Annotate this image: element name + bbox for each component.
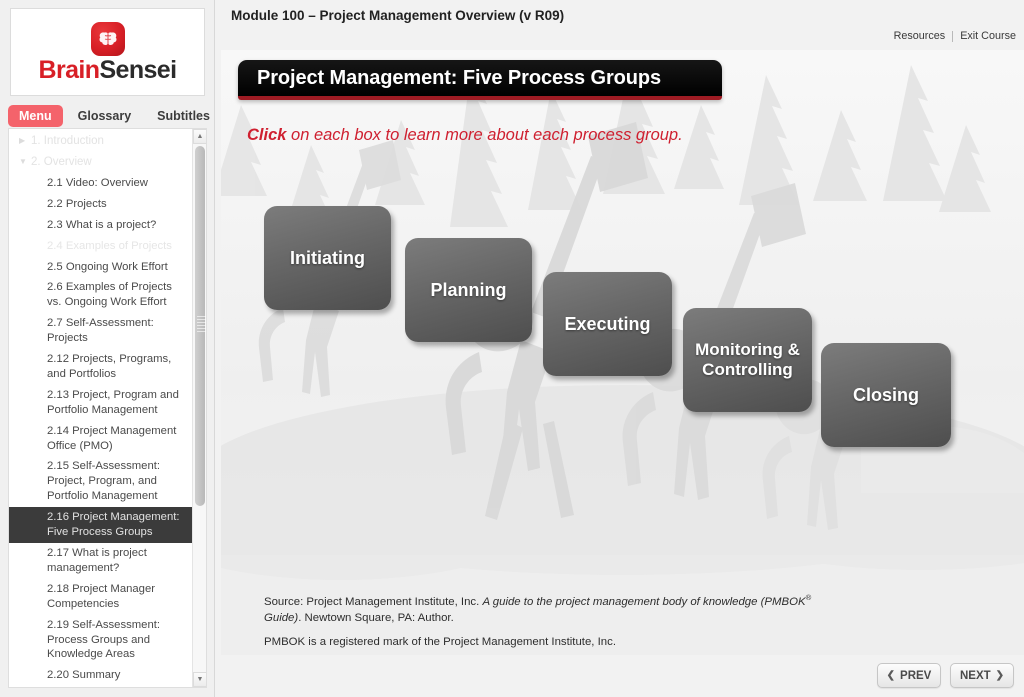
course-outline-list: ▶ 1. Introduction ▼ 2. Overview 2.1 Vide… (9, 129, 193, 687)
sidebar-item-2-14[interactable]: 2.14 Project Management Office (PMO) (9, 421, 193, 457)
source-line-2: PMBOK is a registered mark of the Projec… (264, 634, 824, 650)
instruction-emphasis: Click (247, 126, 286, 144)
course-header: Module 100 – Project Management Overview… (215, 0, 1024, 50)
prev-label: PREV (900, 670, 931, 682)
chevron-down-icon: ▼ (19, 155, 31, 169)
sidebar: BrainSensei Menu Glossary Subtitles ▶ 1.… (0, 0, 215, 697)
tab-glossary[interactable]: Glossary (67, 105, 143, 127)
exit-course-link[interactable]: Exit Course (960, 30, 1016, 42)
process-group-executing[interactable]: Executing (543, 272, 672, 376)
sidebar-item-2-1[interactable]: 2.1 Video: Overview (9, 173, 193, 194)
process-group-label: Closing (853, 385, 919, 406)
slide-stage: Project Management: Five Process Groups … (221, 50, 1024, 655)
sidebar-item-2-19[interactable]: 2.19 Self-Assessment: Process Groups and… (9, 615, 193, 666)
sidebar-item-2-5[interactable]: 2.5 Ongoing Work Effort (9, 257, 193, 278)
brand-wordmark: BrainSensei (39, 58, 177, 83)
sidebar-section-label: 1. Introduction (31, 134, 104, 149)
instruction-text: on each box to learn more about each pro… (286, 126, 682, 144)
slide-instruction: Click on each box to learn more about ea… (247, 126, 683, 145)
sidebar-item-2-7[interactable]: 2.7 Self-Assessment: Projects (9, 313, 193, 349)
process-group-closing[interactable]: Closing (821, 343, 951, 447)
process-group-label: Executing (564, 314, 650, 335)
course-player: BrainSensei Menu Glossary Subtitles ▶ 1.… (0, 0, 1024, 697)
source-line-1: Source: Project Management Institute, In… (264, 593, 824, 626)
tab-subtitles[interactable]: Subtitles (146, 105, 221, 127)
tab-menu[interactable]: Menu (8, 105, 63, 127)
sidebar-scrollbar[interactable]: ▲ ▼ (192, 129, 206, 687)
sidebar-item-2-20[interactable]: 2.20 Summary (9, 665, 193, 686)
chevron-right-icon: ❯ (996, 670, 1004, 681)
process-group-planning[interactable]: Planning (405, 238, 532, 342)
slide-title-banner: Project Management: Five Process Groups (238, 60, 722, 100)
brand-word-1: Brain (39, 56, 100, 84)
process-group-monitoring-controlling[interactable]: Monitoring & Controlling (683, 308, 812, 412)
source-citation: Source: Project Management Institute, In… (264, 593, 824, 650)
next-button[interactable]: NEXT ❯ (950, 663, 1014, 688)
sidebar-section-introduction[interactable]: ▶ 1. Introduction (9, 131, 193, 152)
source-title-part-1: A guide to the project management body o… (482, 596, 805, 608)
resources-link[interactable]: Resources (894, 30, 946, 42)
sidebar-item-2-13[interactable]: 2.13 Project, Program and Portfolio Mana… (9, 385, 193, 421)
source-title-part-2: Guide) (264, 612, 298, 624)
process-group-label: Monitoring & Controlling (695, 340, 800, 379)
page-title: Module 100 – Project Management Overview… (231, 8, 564, 23)
scroll-up-icon[interactable]: ▲ (193, 129, 207, 144)
prev-button[interactable]: ❮ PREV (877, 663, 941, 688)
slide-title: Project Management: Five Process Groups (238, 67, 661, 90)
sidebar-item-2-2[interactable]: 2.2 Projects (9, 194, 193, 215)
scrollbar-grip (197, 316, 207, 334)
sidebar-section-project-environment[interactable]: ▼ 3. Project Enironment (9, 686, 193, 688)
sidebar-item-2-15[interactable]: 2.15 Self-Assessment: Project, Program, … (9, 456, 193, 507)
divider (952, 31, 953, 42)
process-group-label: Planning (431, 280, 507, 301)
chevron-left-icon: ❮ (887, 670, 895, 681)
header-links: Resources Exit Course (894, 30, 1016, 42)
brand-logo: BrainSensei (10, 8, 205, 96)
sidebar-item-2-17[interactable]: 2.17 What is project management? (9, 543, 193, 579)
sidebar-tabbar: Menu Glossary Subtitles (8, 104, 208, 128)
course-footer: ❮ PREV NEXT ❯ (215, 655, 1024, 697)
source-prefix: Source: Project Management Institute, In… (264, 596, 482, 608)
sidebar-item-2-6[interactable]: 2.6 Examples of Projects vs. Ongoing Wor… (9, 277, 193, 313)
sidebar-item-2-18[interactable]: 2.18 Project Manager Competencies (9, 579, 193, 615)
brand-word-2: Sensei (99, 56, 176, 84)
scrollbar-thumb[interactable] (195, 146, 205, 506)
sidebar-item-2-12[interactable]: 2.12 Projects, Programs, and Portfolios (9, 349, 193, 385)
sidebar-item-2-4[interactable]: 2.4 Examples of Projects (9, 236, 193, 257)
sidebar-section-overview[interactable]: ▼ 2. Overview (9, 152, 193, 173)
brain-icon (91, 22, 125, 56)
sidebar-item-2-16[interactable]: 2.16 Project Management: Five Process Gr… (9, 507, 193, 543)
chevron-right-icon: ▶ (19, 134, 31, 148)
registered-mark: ® (806, 593, 812, 602)
sidebar-section-label: 2. Overview (31, 155, 92, 170)
course-outline: ▶ 1. Introduction ▼ 2. Overview 2.1 Vide… (8, 128, 207, 688)
sidebar-item-2-3[interactable]: 2.3 What is a project? (9, 215, 193, 236)
source-suffix: . Newtown Square, PA: Author. (298, 612, 454, 624)
scroll-down-icon[interactable]: ▼ (193, 672, 207, 687)
process-group-initiating[interactable]: Initiating (264, 206, 391, 310)
process-group-label: Initiating (290, 248, 365, 269)
next-label: NEXT (960, 670, 991, 682)
